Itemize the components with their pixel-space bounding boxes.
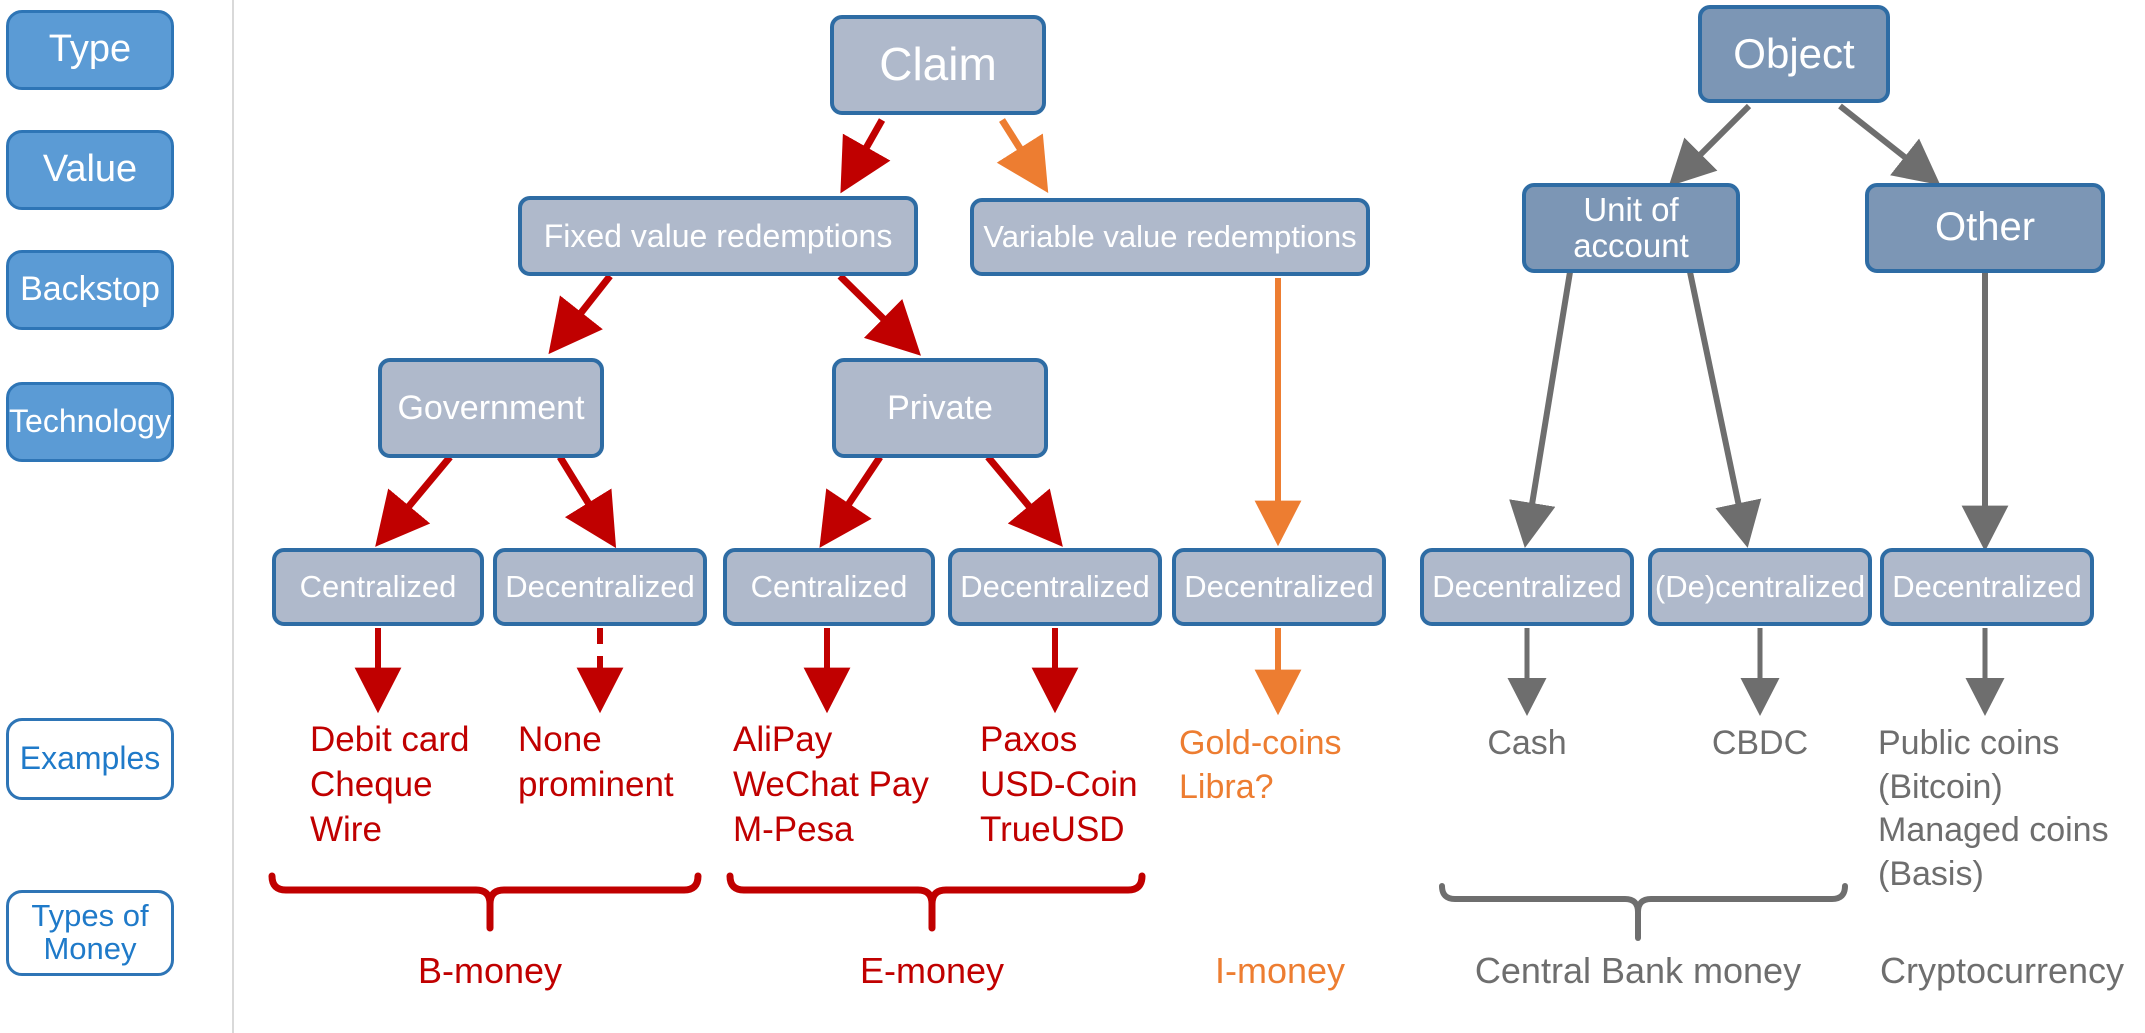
arrow-government-to-decentralized <box>560 457 608 535</box>
node-tech-gov-decentralized[interactable]: Decentralized <box>493 548 707 626</box>
node-object-label: Object <box>1733 31 1854 76</box>
node-tech-other-decentralized-label: Decentralized <box>1892 570 2082 603</box>
arrow-private-to-decentralized <box>988 457 1053 535</box>
node-tech-uoa-decentralized-label: Decentralized <box>1432 570 1622 603</box>
examples-cryptocurrency: Public coins (Bitcoin) Managed coins (Ba… <box>1878 722 2109 896</box>
diagram-canvas: Type Value Backstop Technology Examples … <box>0 0 2145 1033</box>
money-type-i-money: I-money <box>1160 948 1400 994</box>
brace-b-money <box>272 876 698 904</box>
node-tech-uoa-decentralized2[interactable]: (De)centralized <box>1648 548 1872 626</box>
node-object[interactable]: Object <box>1698 5 1890 103</box>
node-private-label: Private <box>887 390 993 427</box>
arrow-fixed-to-government <box>558 276 610 342</box>
brace-central-bank-money <box>1442 886 1845 912</box>
node-tech-other-decentralized[interactable]: Decentralized <box>1880 548 2094 626</box>
arrow-object-to-unit <box>1678 106 1749 177</box>
node-tech-variable-decentralized-label: Decentralized <box>1184 570 1374 603</box>
node-tech-gov-centralized[interactable]: Centralized <box>272 548 484 626</box>
node-unit-of-account-label: Unit of account <box>1573 192 1689 263</box>
row-label-types-of-money-text: Types of Money <box>31 900 148 965</box>
node-other-label: Other <box>1935 206 2035 249</box>
row-label-examples-text: Examples <box>20 742 161 776</box>
node-tech-gov-centralized-label: Centralized <box>300 570 457 603</box>
node-tech-priv-centralized-label: Centralized <box>751 570 908 603</box>
examples-cbdc: CBDC <box>1686 722 1834 766</box>
node-tech-variable-decentralized[interactable]: Decentralized <box>1172 548 1386 626</box>
node-fixed-value-redemptions[interactable]: Fixed value redemptions <box>518 196 918 276</box>
node-private[interactable]: Private <box>832 358 1048 458</box>
brace-e-money <box>730 876 1142 904</box>
examples-b-money-centralized: Debit card Cheque Wire <box>310 718 470 852</box>
node-claim[interactable]: Claim <box>830 15 1046 115</box>
money-type-b-money: B-money <box>370 948 610 994</box>
node-government[interactable]: Government <box>378 358 604 458</box>
node-government-label: Government <box>397 390 584 427</box>
node-tech-priv-decentralized[interactable]: Decentralized <box>948 548 1162 626</box>
node-claim-label: Claim <box>879 40 997 90</box>
money-type-e-money: E-money <box>812 948 1052 994</box>
node-tech-priv-decentralized-label: Decentralized <box>960 570 1150 603</box>
arrow-government-to-centralized <box>385 457 450 535</box>
money-type-cryptocurrency: Cryptocurrency <box>1862 948 2142 994</box>
money-type-central-bank-money: Central Bank money <box>1438 948 1838 994</box>
arrow-claim-to-variable <box>1002 120 1040 180</box>
connector-layer <box>0 0 2145 1033</box>
examples-b-money-decentralized: None prominent <box>518 718 674 808</box>
examples-cash: Cash <box>1453 722 1601 766</box>
examples-e-money-decentralized: Paxos USD-Coin TrueUSD <box>980 718 1138 852</box>
node-other[interactable]: Other <box>1865 183 2105 273</box>
row-label-value-text: Value <box>43 150 137 190</box>
row-label-types-of-money[interactable]: Types of Money <box>6 890 174 976</box>
arrow-object-to-other <box>1840 106 1930 177</box>
node-tech-gov-decentralized-label: Decentralized <box>505 570 695 603</box>
row-label-value[interactable]: Value <box>6 130 174 210</box>
examples-e-money-centralized: AliPay WeChat Pay M-Pesa <box>733 718 929 852</box>
row-label-backstop[interactable]: Backstop <box>6 250 174 330</box>
node-variable-value-label: Variable value redemptions <box>983 220 1356 253</box>
row-label-backstop-text: Backstop <box>20 272 160 308</box>
node-fixed-value-label: Fixed value redemptions <box>544 219 893 254</box>
arrow-unit-to-decentralized2 <box>1690 272 1745 535</box>
node-tech-uoa-decentralized2-label: (De)centralized <box>1655 570 1865 603</box>
node-tech-uoa-decentralized[interactable]: Decentralized <box>1420 548 1634 626</box>
arrow-unit-to-decentralized <box>1527 272 1570 535</box>
row-label-type[interactable]: Type <box>6 10 174 90</box>
node-tech-priv-centralized[interactable]: Centralized <box>723 548 935 626</box>
arrow-private-to-centralized <box>828 457 880 535</box>
arrow-fixed-to-private <box>840 276 910 345</box>
arrow-claim-to-fixed <box>848 120 882 180</box>
row-label-technology[interactable]: Technology <box>6 382 174 462</box>
row-label-technology-text: Technology <box>9 405 171 439</box>
examples-i-money: Gold-coins Libra? <box>1179 722 1342 809</box>
row-label-examples[interactable]: Examples <box>6 718 174 800</box>
row-label-type-text: Type <box>49 30 131 70</box>
node-variable-value-redemptions[interactable]: Variable value redemptions <box>970 198 1370 276</box>
node-unit-of-account[interactable]: Unit of account <box>1522 183 1740 273</box>
